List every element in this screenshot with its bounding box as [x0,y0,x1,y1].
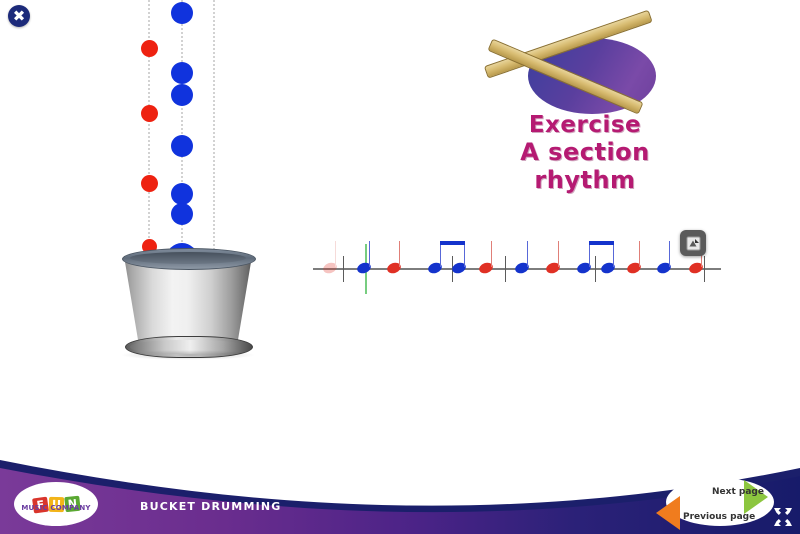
app-stage: ✖ Exercise A section rhythm [0,0,800,534]
note-stem [399,241,400,267]
note-stem [369,241,370,267]
note-stem [669,241,670,267]
falling-dot-blue [171,135,193,157]
barline [505,256,506,282]
note-stem [589,241,590,267]
barline [343,256,344,282]
falling-dot-red [141,175,158,192]
bucket-shadow [120,350,256,360]
note-stem [335,241,336,267]
falling-dot-red [141,40,158,57]
bucket-top-inner [130,252,246,264]
previous-page-arrow[interactable] [656,496,680,530]
note-select-cursor-icon[interactable] [680,230,706,256]
barline [704,256,705,282]
barline [595,256,596,282]
drumsticks-logo [480,22,670,117]
brand-logo[interactable]: F U N MUSIC COMPANY [14,482,98,526]
next-page-arrow[interactable] [744,480,768,514]
title-line-2: A section rhythm [470,138,700,194]
falling-dot-blue [171,2,193,24]
note-stem [527,241,528,267]
brand-subtitle: MUSIC COMPANY [14,505,98,512]
note-stem [440,241,441,267]
note-stem [613,241,614,267]
falling-dot-blue [171,183,193,205]
falling-dot-red [141,105,158,122]
lane-guide-right [213,0,215,262]
falling-dot-blue [171,203,193,225]
title-line-1: Exercise [470,112,700,138]
page-title: Exercise A section rhythm [470,112,700,194]
falling-dot-blue [171,84,193,106]
lesson-title: BUCKET DRUMMING [140,500,282,513]
note-stem [639,241,640,267]
note-stem [491,241,492,267]
beam [440,241,465,245]
fullscreen-expand-icon[interactable] [772,506,794,528]
bucket-drum[interactable] [108,246,268,362]
next-page-label[interactable]: Next page [712,487,764,497]
note-stem [464,241,465,267]
falling-dot-blue [171,62,193,84]
note-stem [558,241,559,267]
beam [589,241,614,245]
previous-page-label[interactable]: Previous page [683,512,755,522]
music-notation[interactable] [305,222,725,294]
